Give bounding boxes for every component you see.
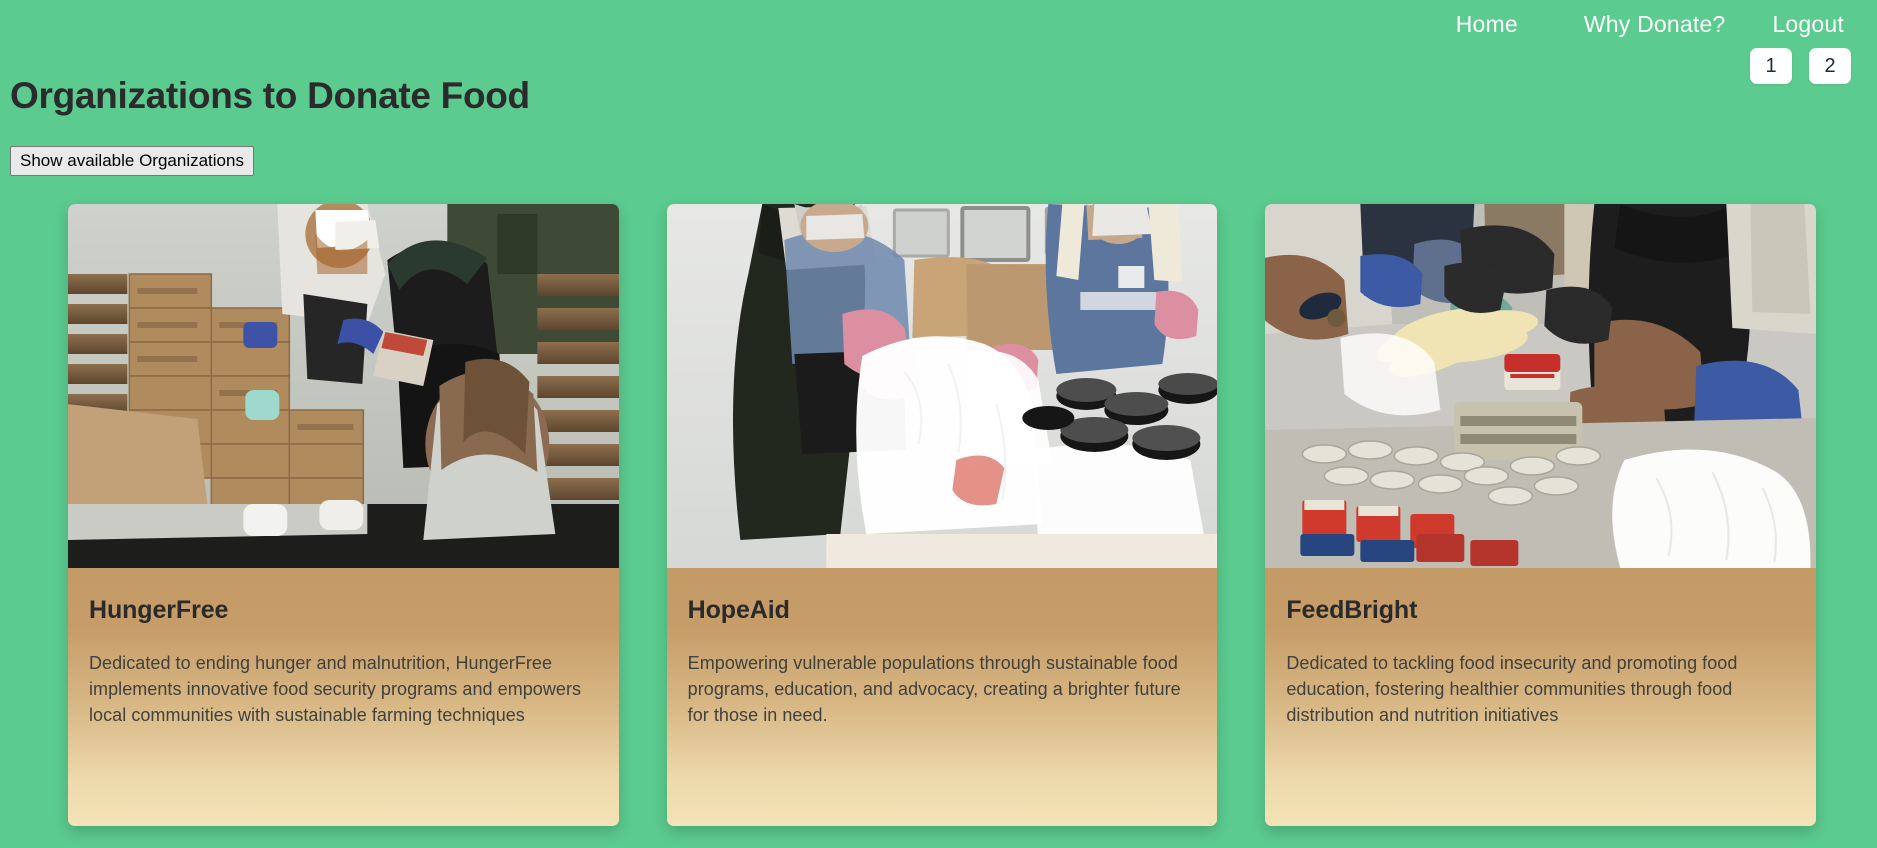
pagination: 1 2 (1750, 48, 1851, 84)
top-navbar: Home Why Donate? Logout (0, 0, 1877, 46)
organization-body-hungerfree: HungerFree Dedicated to ending hunger an… (68, 568, 619, 826)
pagination-page-1[interactable]: 1 (1750, 48, 1792, 84)
organization-title: FeedBright (1286, 595, 1795, 625)
organization-description: Dedicated to ending hunger and malnutrit… (89, 650, 598, 728)
organization-description: Empowering vulnerable populations throug… (688, 650, 1197, 728)
organization-title: HopeAid (688, 595, 1197, 625)
nav-link-why-donate[interactable]: Why Donate? (1584, 10, 1726, 38)
show-available-organizations-button[interactable]: Show available Organizations (10, 146, 254, 176)
organization-card-grid: HungerFree Dedicated to ending hunger an… (68, 204, 1816, 826)
nav-link-logout[interactable]: Logout (1772, 10, 1844, 38)
organization-description: Dedicated to tackling food insecurity an… (1286, 650, 1795, 728)
organization-photo-hungerfree (68, 204, 619, 568)
organization-card-hopeaid[interactable]: HopeAid Empowering vulnerable population… (667, 204, 1218, 826)
organization-card-feedbright[interactable]: FeedBright Dedicated to tackling food in… (1265, 204, 1816, 826)
pagination-page-2[interactable]: 2 (1809, 48, 1851, 84)
organization-card-hungerfree[interactable]: HungerFree Dedicated to ending hunger an… (68, 204, 619, 826)
organization-body-hopeaid: HopeAid Empowering vulnerable population… (667, 568, 1218, 826)
organization-body-feedbright: FeedBright Dedicated to tackling food in… (1265, 568, 1816, 826)
nav-link-home[interactable]: Home (1456, 10, 1518, 38)
organization-photo-feedbright (1265, 204, 1816, 568)
page-title: Organizations to Donate Food (10, 74, 530, 118)
organization-title: HungerFree (89, 595, 598, 625)
organization-photo-hopeaid (667, 204, 1218, 568)
